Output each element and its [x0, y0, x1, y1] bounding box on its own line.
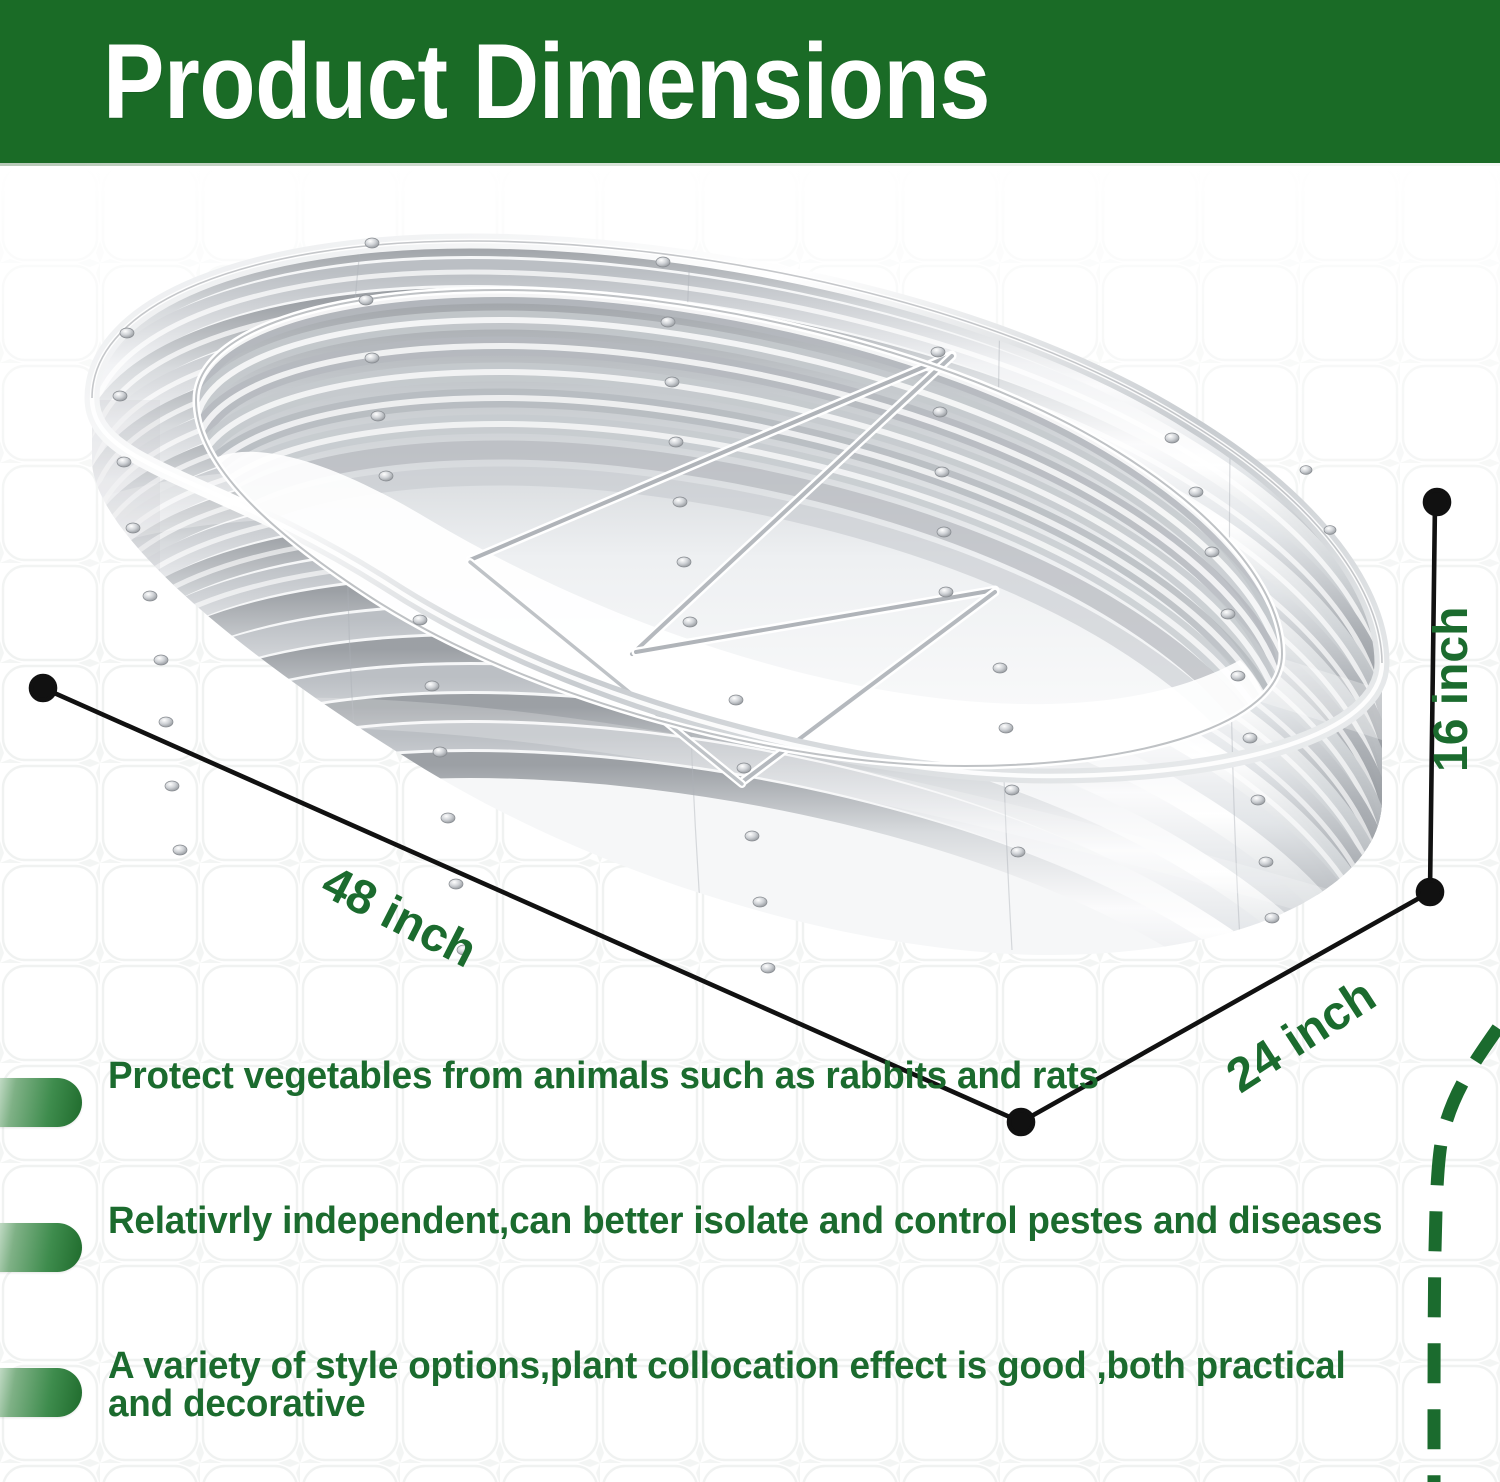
dimension-label-length: 48 inch [313, 855, 485, 979]
header-banner: Product Dimensions [0, 0, 1500, 163]
feature-text: Protect vegetables from animals such as … [108, 1058, 1099, 1096]
feature-item: Protect vegetables from animals such as … [0, 1058, 1500, 1127]
bolt-heads [113, 238, 1336, 973]
support-rods [470, 355, 995, 784]
feature-text: A variety of style options,plant colloca… [108, 1348, 1398, 1423]
dimension-endpoint-right [1418, 880, 1442, 904]
bullet-pill-icon [0, 1223, 82, 1272]
product-dimensions-infographic: Product Dimensions [0, 0, 1500, 1482]
bed-top-rim [92, 241, 1382, 776]
bed-outer-wall [60, 200, 1420, 1187]
bullet-pill-icon [0, 1368, 82, 1417]
banner-underline [0, 163, 1500, 166]
feature-item: A variety of style options,plant colloca… [0, 1348, 1500, 1423]
feature-list: Protect vegetables from animals such as … [0, 1058, 1500, 1423]
bed-inner-cavity [150, 250, 1350, 856]
dimension-label-height: 16 inch [1424, 607, 1479, 772]
feature-text: Relativrly independent,can better isolat… [108, 1203, 1382, 1241]
page-title: Product Dimensions [103, 28, 990, 135]
dimension-lines [31, 490, 1449, 1134]
feature-item: Relativrly independent,can better isolat… [0, 1203, 1500, 1272]
bullet-pill-icon [0, 1078, 82, 1127]
dimension-endpoint-left [31, 676, 55, 700]
dimension-endpoint-top [1425, 490, 1449, 514]
